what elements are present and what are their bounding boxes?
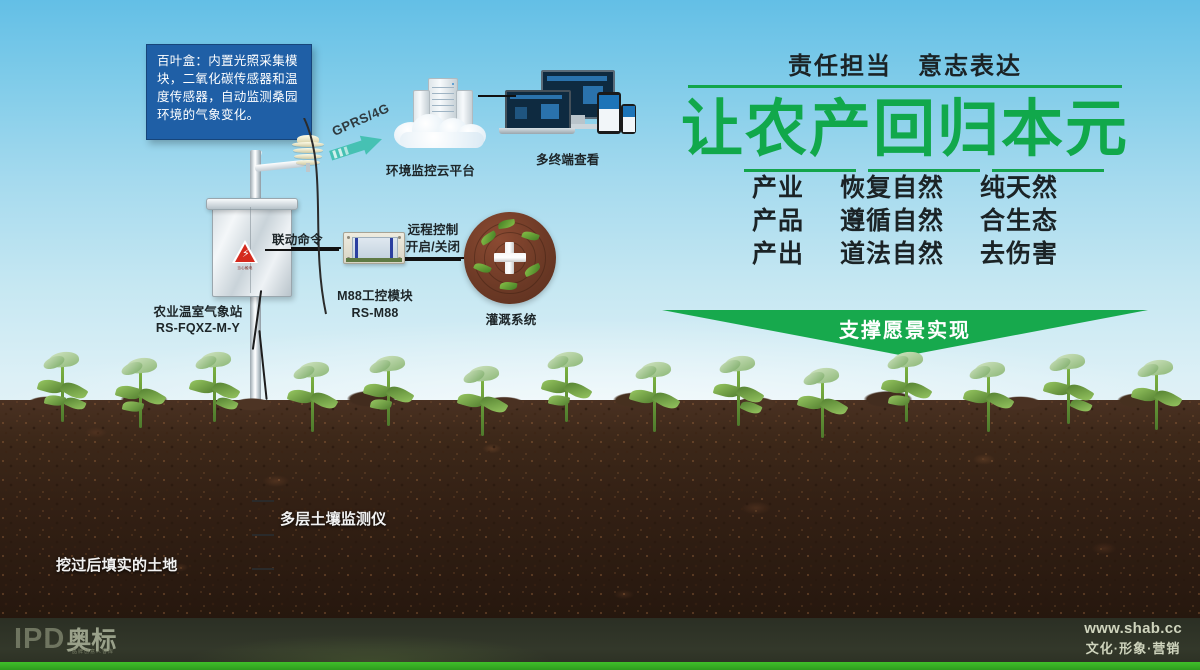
seedling-stem — [987, 374, 990, 432]
value-cell: 纯天然 — [980, 173, 1058, 203]
value-cell: 产业 — [752, 173, 804, 203]
banner-label: 支撑愿景实现 — [662, 314, 1148, 343]
slogan-panel: 责任担当 意志表达 让农产回归本元 产业 产品 产出 恢复自然 遵循自然 道法自… — [640, 38, 1170, 338]
server-line — [432, 87, 454, 88]
m88-label-line1: M88工控模块 — [320, 288, 430, 304]
seedling-stem — [905, 364, 908, 422]
m88-terminal-bar — [390, 238, 393, 258]
footer-green-strip — [0, 662, 1200, 670]
value-cell: 道法自然 — [840, 239, 944, 269]
probe-tick — [252, 568, 274, 570]
screen-tile — [510, 95, 562, 99]
value-cell: 去伤害 — [980, 239, 1058, 269]
headline: 让农产回归本元 — [640, 96, 1170, 162]
rule-top — [688, 85, 1122, 88]
m88-connector-strip — [346, 258, 402, 262]
value-column-2: 恢复自然 遵循自然 道法自然 — [840, 173, 944, 269]
m88-module-icon — [343, 232, 405, 264]
phone-icon — [621, 104, 636, 134]
logo-latin-text: IPD — [14, 625, 65, 654]
rule-seg-1 — [744, 169, 856, 172]
backfilled-land-label: 挖过后填实的土地 — [56, 558, 178, 574]
logo-subtitle: 品牌创意人智库 — [72, 648, 114, 655]
seedling — [366, 356, 412, 426]
seedling — [716, 356, 762, 426]
server-line — [432, 93, 454, 94]
phone-screen-body — [623, 117, 635, 132]
value-cell: 产出 — [752, 239, 804, 269]
server-led — [452, 83, 454, 85]
cloud-puff — [400, 132, 484, 148]
seedling — [632, 362, 678, 432]
seedling-stem — [213, 364, 216, 422]
value-column-1: 产业 产品 产出 — [752, 173, 804, 269]
seedling-stem — [311, 374, 314, 432]
footer-glow — [130, 618, 610, 662]
slogan-top: 责任担当 意志表达 — [640, 46, 1170, 81]
weather-station-label-line1: 农业温室气象站 — [118, 304, 278, 320]
screen-tile — [515, 107, 527, 119]
seedling — [290, 362, 336, 432]
seedling-stem — [139, 370, 142, 428]
seedling-stem — [565, 364, 568, 422]
seedling — [800, 368, 846, 438]
seedling-stem — [481, 378, 484, 436]
multi-terminal-label: 多终端查看 — [536, 152, 600, 168]
probe-tick — [252, 534, 274, 536]
sensor-callout-text: 百叶盒：内置光照采集模块，二氧化碳传感器和温度传感器，自动监测桑园环境的气象变化… — [157, 54, 298, 122]
server-line — [432, 105, 454, 106]
linkage-command-label: 联动命令 — [272, 232, 323, 248]
m88-screw — [347, 236, 350, 239]
site-tagline: 文化·形象·营销 — [1084, 638, 1182, 657]
remote-control-label-line2: 开启/关闭 — [403, 239, 463, 255]
high-voltage-warning-icon: ⚡ — [232, 240, 258, 263]
hv-warning-label: 当心触电 — [228, 266, 262, 271]
seedling — [884, 352, 930, 422]
seedling-stem — [821, 380, 824, 438]
value-columns: 产业 产品 产出 恢复自然 遵循自然 道法自然 纯天然 合生态 去伤害 — [640, 173, 1170, 269]
lightning-bolt-icon: ⚡ — [242, 249, 250, 260]
seedling-stem — [61, 364, 64, 422]
value-cell: 产品 — [752, 206, 804, 236]
seedling-stem — [387, 368, 390, 426]
weather-station-label-line2: RS-FQXZ-M-Y — [118, 320, 278, 336]
screen-tile — [547, 76, 607, 81]
rule-seg-2 — [868, 169, 980, 172]
connector-underline-remote — [403, 259, 461, 261]
tablet-icon — [597, 92, 621, 134]
value-cell: 遵循自然 — [840, 206, 944, 236]
poster-canvas: 责任担当 意志表达 让农产回归本元 产业 产品 产出 恢复自然 遵循自然 道法自… — [0, 0, 1200, 670]
seedling-stem — [1155, 372, 1158, 430]
remote-control-label-line1: 远程控制 — [403, 222, 463, 238]
site-info: www.shab.cc 文化·形象·营销 — [1084, 620, 1182, 657]
sprinkler-head-horizontal — [494, 253, 526, 262]
irrigation-system-icon — [464, 212, 556, 304]
tablet-screen-body — [599, 109, 619, 131]
value-cell: 恢复自然 — [840, 173, 944, 203]
seedling — [1046, 354, 1092, 424]
support-banner: 支撑愿景实现 — [662, 310, 1148, 356]
soil-monitor-label: 多层土壤监测仪 — [280, 512, 386, 528]
m88-screw — [398, 236, 401, 239]
irrigation-label: 灌溉系统 — [466, 312, 556, 328]
cloud-icon — [394, 112, 494, 148]
server-line — [432, 99, 454, 100]
site-url[interactable]: www.shab.cc — [1084, 620, 1182, 637]
screen-tile — [541, 104, 559, 119]
m88-label-line2: RS-M88 — [320, 305, 430, 321]
connector-cloud-to-devices — [478, 95, 516, 97]
cloud-platform-label: 环境监控云平台 — [386, 163, 475, 179]
m88-terminal-bar — [355, 238, 358, 258]
seedling — [966, 362, 1012, 432]
footer-bar — [0, 618, 1200, 670]
seedling — [544, 352, 590, 422]
laptop-base — [499, 128, 575, 134]
sensor-callout-box: 百叶盒：内置光照采集模块，二氧化碳传感器和温度传感器，自动监测桑园环境的气象变化… — [146, 44, 312, 140]
seedling-stem — [737, 368, 740, 426]
multi-device-icon — [505, 70, 637, 148]
seedling — [460, 366, 506, 436]
enclosure-lid — [206, 198, 298, 210]
seedling — [118, 358, 164, 428]
seedling — [1134, 360, 1180, 430]
probe-tick — [252, 500, 274, 502]
value-cell: 合生态 — [980, 206, 1058, 236]
soil-surface-edge — [0, 390, 1200, 412]
seedling-stem — [653, 374, 656, 432]
seedling — [40, 352, 86, 422]
value-column-3: 纯天然 合生态 去伤害 — [980, 173, 1058, 269]
seedling-stem — [1067, 366, 1070, 424]
seedling — [192, 352, 238, 422]
rule-seg-3 — [992, 169, 1104, 172]
